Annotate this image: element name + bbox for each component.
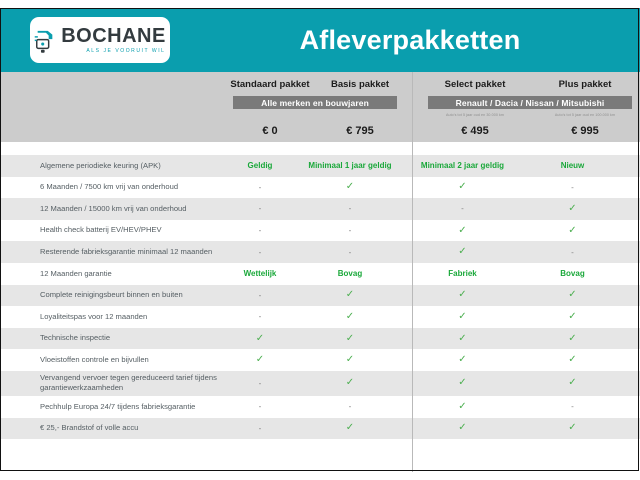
feature-label: Vervangend vervoer tegen gereduceerd tar… <box>0 373 225 394</box>
value-text: Minimaal 2 jaar geldig <box>421 161 504 170</box>
value-text: Minimaal 1 jaar geldig <box>308 161 391 170</box>
feature-label: 12 Maanden / 15000 km vrij van onderhoud <box>0 204 225 214</box>
logo-wordmark: BOCHANE <box>61 26 166 46</box>
feature-value-cell: - <box>225 424 295 433</box>
value-text: Fabriek <box>448 269 476 278</box>
dash-icon: - <box>259 402 262 411</box>
value-text: Wettelijk <box>244 269 277 278</box>
check-icon: ✓ <box>568 354 576 365</box>
dash-icon: - <box>461 204 464 213</box>
page-title: Afleverpakketten <box>180 8 640 72</box>
feature-label: 12 Maanden garantie <box>0 269 225 279</box>
check-icon: ✓ <box>346 181 354 192</box>
check-icon: ✓ <box>346 289 354 300</box>
feature-label: Vloeistoffen controle en bijvullen <box>0 355 225 365</box>
feature-value-cell: - <box>225 312 295 321</box>
table-top-spacer <box>0 142 640 155</box>
package-group-banner-left: Alle merken en bouwjaren <box>233 96 397 109</box>
package-sub-standaard <box>225 111 315 120</box>
feature-value-cell: ✓ <box>225 334 295 344</box>
dash-icon: - <box>259 379 262 388</box>
afleverpakketten-page: BOCHANE ALS JE VOORUIT WIL Afleverpakket… <box>0 0 640 480</box>
dash-icon: - <box>259 183 262 192</box>
check-icon: ✓ <box>568 203 576 214</box>
check-icon: ✓ <box>458 311 466 322</box>
logo-tagline: ALS JE VOORUIT WIL <box>87 49 166 54</box>
feature-value-cell: ✓ <box>520 290 625 300</box>
feature-label: Algemene periodieke keuring (APK) <box>0 161 225 171</box>
check-icon: ✓ <box>568 422 576 433</box>
feature-value-cell: - <box>520 402 625 411</box>
package-sub-plus: Auto's tot 5 jaar oud en 100.000 km <box>530 111 640 120</box>
feature-value-cell: ✓ <box>405 355 520 365</box>
check-icon: ✓ <box>458 333 466 344</box>
bochane-logo: BOCHANE ALS JE VOORUIT WIL <box>30 17 170 63</box>
feature-value-cell: - <box>225 226 295 235</box>
feature-value-cell: Minimaal 2 jaar geldig <box>405 161 520 170</box>
table-row: Algemene periodieke keuring (APK)GeldigM… <box>0 155 640 177</box>
check-icon: ✓ <box>458 401 466 412</box>
check-icon: ✓ <box>458 422 466 433</box>
check-icon: ✓ <box>346 354 354 365</box>
check-icon: ✓ <box>256 354 264 365</box>
feature-value-cell: ✓ <box>405 334 520 344</box>
check-icon: ✓ <box>256 333 264 344</box>
dash-icon: - <box>259 291 262 300</box>
value-text: Geldig <box>248 161 273 170</box>
feature-value-cell: Fabriek <box>405 269 520 278</box>
table-row: Vervangend vervoer tegen gereduceerd tar… <box>0 371 640 396</box>
feature-label: 6 Maanden / 7500 km vrij van onderhoud <box>0 182 225 192</box>
table-row: € 25,- Brandstof of volle accu-✓✓✓ <box>0 418 640 440</box>
feature-value-cell: - <box>295 248 405 257</box>
feature-value-cell: ✓ <box>225 355 295 365</box>
check-icon: ✓ <box>568 377 576 388</box>
dash-icon: - <box>259 226 262 235</box>
table-row: Resterende fabrieksgarantie minimaal 12 … <box>0 241 640 263</box>
feature-value-cell: - <box>520 183 625 192</box>
dash-icon: - <box>349 248 352 257</box>
feature-value-cell: ✓ <box>520 355 625 365</box>
feature-value-cell: - <box>225 379 295 388</box>
check-icon: ✓ <box>458 377 466 388</box>
package-price-select: € 495 <box>420 120 530 142</box>
feature-value-cell: ✓ <box>405 226 520 236</box>
feature-label: Resterende fabrieksgarantie minimaal 12 … <box>0 247 225 257</box>
package-price-basis: € 795 <box>315 120 405 142</box>
feature-label: Complete reinigingsbeurt binnen en buite… <box>0 290 225 300</box>
package-price-plus: € 995 <box>530 120 640 142</box>
feature-value-cell: ✓ <box>405 182 520 192</box>
feature-value-cell: ✓ <box>520 378 625 388</box>
feature-value-cell: ✓ <box>405 247 520 257</box>
dash-icon: - <box>259 424 262 433</box>
feature-value-cell: - <box>225 248 295 257</box>
feature-value-cell: - <box>225 291 295 300</box>
feature-value-cell: ✓ <box>405 312 520 322</box>
check-icon: ✓ <box>458 354 466 365</box>
dash-icon: - <box>571 183 574 192</box>
feature-value-cell: Nieuw <box>520 161 625 170</box>
feature-value-cell: - <box>295 226 405 235</box>
package-name-standaard: Standaard pakket <box>225 79 315 93</box>
check-icon: ✓ <box>458 246 466 257</box>
check-icon: ✓ <box>346 422 354 433</box>
feature-value-cell: ✓ <box>295 312 405 322</box>
check-icon: ✓ <box>568 225 576 236</box>
table-row: Vloeistoffen controle en bijvullen✓✓✓✓ <box>0 349 640 371</box>
feature-label: Health check batterij EV/HEV/PHEV <box>0 225 225 235</box>
package-sub-select: Auto's tot 5 jaar oud en 30.000 km <box>420 111 530 120</box>
feature-value-cell: ✓ <box>405 290 520 300</box>
feature-value-cell: - <box>225 402 295 411</box>
package-group-select-plus: Select pakket Plus pakket Renault / Daci… <box>420 72 640 142</box>
page-header: BOCHANE ALS JE VOORUIT WIL Afleverpakket… <box>0 8 640 72</box>
feature-value-cell: ✓ <box>405 378 520 388</box>
feature-value-cell: ✓ <box>295 290 405 300</box>
dash-icon: - <box>349 226 352 235</box>
feature-value-cell: ✓ <box>295 423 405 433</box>
feature-value-cell: ✓ <box>520 334 625 344</box>
feature-comparison-table: Algemene periodieke keuring (APK)GeldigM… <box>0 142 640 472</box>
table-row: Complete reinigingsbeurt binnen en buite… <box>0 285 640 307</box>
feature-value-cell: ✓ <box>405 402 520 412</box>
value-text: Nieuw <box>561 161 585 170</box>
check-icon: ✓ <box>568 333 576 344</box>
feature-value-cell: - <box>225 183 295 192</box>
package-price-standaard: € 0 <box>225 120 315 142</box>
package-name-plus: Plus pakket <box>530 79 640 93</box>
package-name-basis: Basis pakket <box>315 79 405 93</box>
table-row: Loyaliteitspas voor 12 maanden-✓✓✓ <box>0 306 640 328</box>
feature-value-cell: ✓ <box>295 355 405 365</box>
feature-value-cell: Bovag <box>520 269 625 278</box>
check-icon: ✓ <box>346 333 354 344</box>
check-icon: ✓ <box>458 181 466 192</box>
dash-icon: - <box>259 312 262 321</box>
dash-icon: - <box>259 248 262 257</box>
package-group-standaard-basis: Standaard pakket Basis pakket Alle merke… <box>225 72 405 142</box>
feature-label: Pechhulp Europa 24/7 tijdens fabrieksgar… <box>0 402 225 412</box>
feature-value-cell: Bovag <box>295 269 405 278</box>
feature-value-cell: ✓ <box>520 226 625 236</box>
feature-value-cell: ✓ <box>520 423 625 433</box>
feature-label: Loyaliteitspas voor 12 maanden <box>0 312 225 322</box>
check-icon: ✓ <box>346 311 354 322</box>
feature-value-cell: - <box>405 204 520 213</box>
dash-icon: - <box>571 402 574 411</box>
feature-value-cell: - <box>295 402 405 411</box>
table-row: Pechhulp Europa 24/7 tijdens fabrieksgar… <box>0 396 640 418</box>
value-text: Bovag <box>338 269 362 278</box>
table-row: 12 Maanden garantieWettelijkBovagFabriek… <box>0 263 640 285</box>
check-icon: ✓ <box>346 377 354 388</box>
bochane-mark-icon <box>34 28 56 54</box>
dash-icon: - <box>349 204 352 213</box>
dash-icon: - <box>349 402 352 411</box>
check-icon: ✓ <box>568 289 576 300</box>
check-icon: ✓ <box>458 225 466 236</box>
feature-value-cell: - <box>225 204 295 213</box>
dash-icon: - <box>259 204 262 213</box>
feature-value-cell: ✓ <box>405 423 520 433</box>
table-row: Technische inspectie✓✓✓✓ <box>0 328 640 350</box>
group-divider <box>412 72 413 472</box>
package-sub-basis <box>315 111 405 120</box>
feature-value-cell: ✓ <box>295 182 405 192</box>
table-row: Health check batterij EV/HEV/PHEV--✓✓ <box>0 220 640 242</box>
feature-value-cell: ✓ <box>520 312 625 322</box>
feature-value-cell: ✓ <box>295 334 405 344</box>
feature-label: € 25,- Brandstof of volle accu <box>0 423 225 433</box>
dash-icon: - <box>571 248 574 257</box>
feature-value-cell: Geldig <box>225 161 295 170</box>
package-name-select: Select pakket <box>420 79 530 93</box>
table-row: 12 Maanden / 15000 km vrij van onderhoud… <box>0 198 640 220</box>
check-icon: ✓ <box>458 289 466 300</box>
package-group-banner-right: Renault / Dacia / Nissan / Mitsubishi <box>428 96 632 109</box>
feature-value-cell: Minimaal 1 jaar geldig <box>295 161 405 170</box>
feature-value-cell: ✓ <box>295 378 405 388</box>
feature-label: Technische inspectie <box>0 333 225 343</box>
feature-value-cell: - <box>295 204 405 213</box>
value-text: Bovag <box>560 269 584 278</box>
package-header-band: Totaalprijs Standaard pakket Basis pakke… <box>0 72 640 142</box>
table-row: 6 Maanden / 7500 km vrij van onderhoud-✓… <box>0 177 640 199</box>
feature-value-cell: Wettelijk <box>225 269 295 278</box>
check-icon: ✓ <box>568 311 576 322</box>
feature-value-cell: ✓ <box>520 204 625 214</box>
feature-value-cell: - <box>520 248 625 257</box>
